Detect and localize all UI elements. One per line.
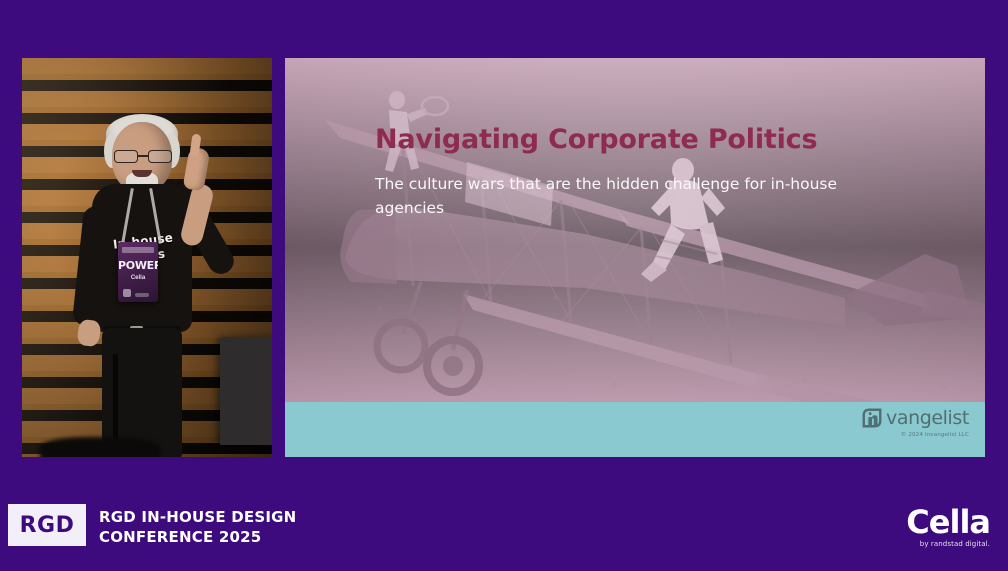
slide-background-photo [285, 58, 985, 402]
speaker-video-feed[interactable]: In-house Rocks POWER Cella [22, 58, 272, 457]
glasses-lens-right [148, 150, 172, 163]
rgd-logo: RGD [8, 504, 86, 546]
conference-title-line1: RGD IN-HOUSE DESIGN [99, 507, 296, 527]
glasses-bridge [138, 155, 148, 157]
conference-title-line2: CONFERENCE 2025 [99, 527, 296, 547]
presentation-stage: In-house Rocks POWER Cella [0, 0, 1008, 571]
presentation-slide[interactable]: Navigating Corporate Politics The cultur… [285, 58, 985, 457]
cella-sponsor-logo: Cella by randstad digital. [906, 505, 990, 548]
photo-vignette [285, 58, 985, 402]
speaker-figure: In-house Rocks POWER Cella [74, 114, 224, 457]
rgd-logo-text: RGD [20, 513, 75, 538]
slide-footer-band: vangelist © 2024 Invangelist LLC [285, 402, 985, 457]
badge-word: POWER [118, 259, 158, 272]
stage-monitor [220, 337, 272, 445]
badge-name: Cella [118, 275, 158, 281]
invangelist-logo-text: vangelist [886, 408, 969, 428]
glasses-lens-left [114, 150, 138, 163]
slide-subtitle: The culture wars that are the hidden cha… [375, 172, 895, 220]
invangelist-logo: vangelist [861, 407, 969, 429]
slide-copyright: © 2024 Invangelist LLC [901, 432, 969, 438]
glasses-icon [114, 150, 172, 163]
conference-title: RGD IN-HOUSE DESIGN CONFERENCE 2025 [99, 507, 296, 547]
conference-badge: POWER Cella [118, 242, 158, 302]
invangelist-house-icon [861, 407, 883, 429]
badge-header-strip [122, 247, 154, 253]
speaker-hand-left [76, 319, 101, 348]
cella-logo-text: Cella [906, 505, 990, 539]
slide-title: Navigating Corporate Politics [375, 124, 817, 155]
conference-bottom-bar: RGD RGD IN-HOUSE DESIGN CONFERENCE 2025 … [0, 457, 1008, 571]
stage-floor-shadow [40, 437, 160, 457]
cella-tagline: by randstad digital. [906, 540, 990, 548]
badge-barcode-icon [135, 293, 149, 297]
badge-qr-icon [123, 289, 131, 297]
